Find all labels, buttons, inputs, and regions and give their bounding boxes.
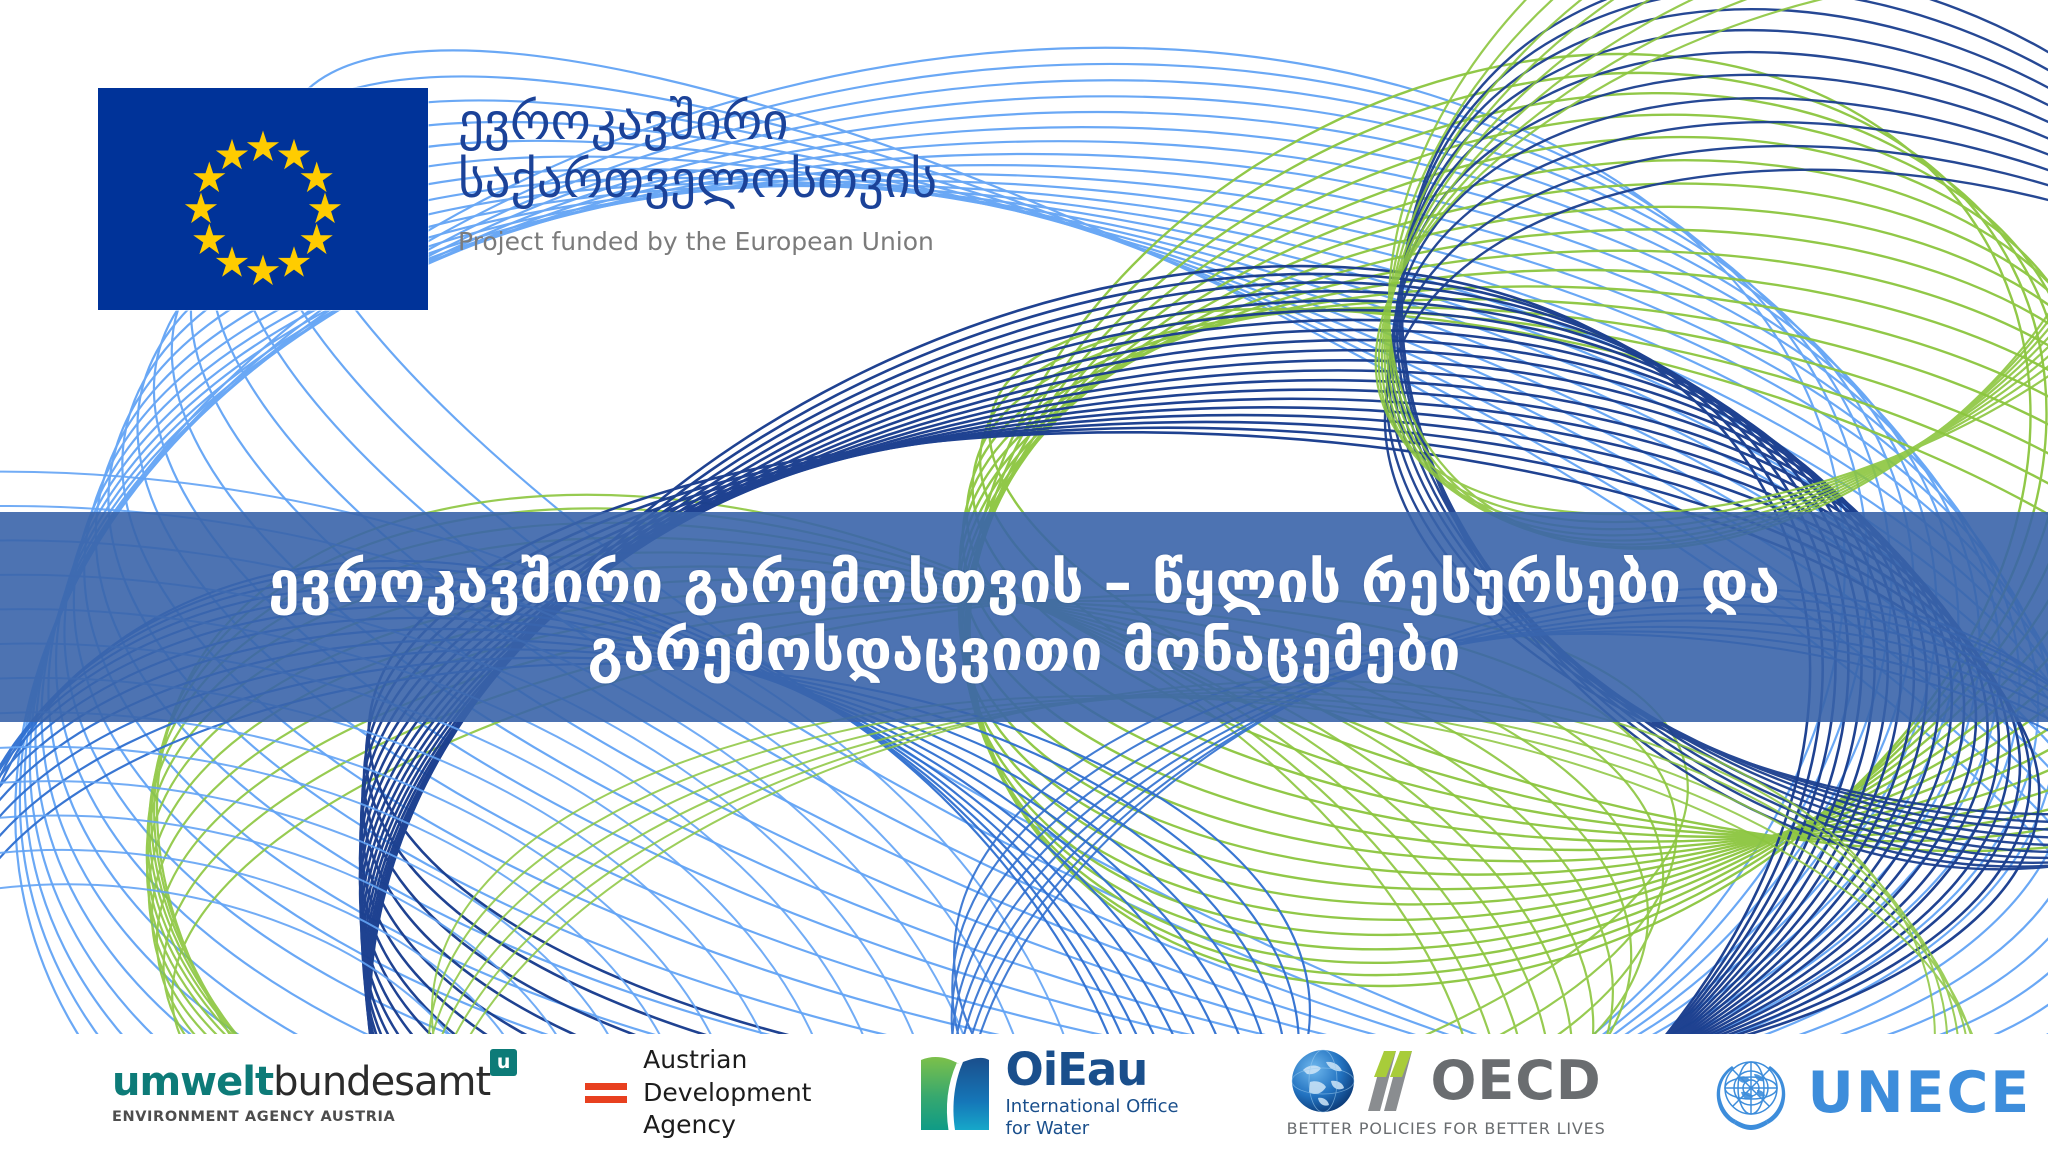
oieau-wordmark: OiEau xyxy=(1005,1047,1178,1092)
title-slide: ევროკავშირი საქართველოსთვის Project fund… xyxy=(0,0,2048,1152)
page-title-line-2: გარემოსდაცვითი მონაცემები xyxy=(124,617,1924,685)
uba-wordmark: umweltbundesamt u xyxy=(112,1062,490,1102)
oieau-river-mark-icon xyxy=(919,1052,991,1134)
european-union-flag xyxy=(98,88,428,310)
unece-wordmark: UNECE xyxy=(1808,1065,2032,1122)
austrian-flag-icon xyxy=(585,1083,627,1103)
uba-subtitle: ENVIRONMENT AGENCY AUSTRIA xyxy=(112,1109,490,1125)
logo-umweltbundesamt: umweltbundesamt u ENVIRONMENT AGENCY AUS… xyxy=(112,1034,490,1152)
logo-unece: UNECE xyxy=(1708,1034,2032,1152)
logo-austrian-development-agency: Austrian Development Agency xyxy=(585,1034,811,1152)
eu-logo-text: ევროკავშირი საქართველოსთვის Project fund… xyxy=(458,88,937,254)
ada-line-3: Agency xyxy=(643,1109,811,1142)
oecd-globe-icon xyxy=(1290,1048,1356,1114)
ada-line-1: Austrian xyxy=(643,1044,811,1077)
uba-word-umwelt: umwelt xyxy=(112,1059,273,1105)
uba-superscript-badge: u xyxy=(490,1049,517,1076)
oecd-tagline: BETTER POLICIES FOR BETTER LIVES xyxy=(1287,1119,1606,1138)
ada-wordmark: Austrian Development Agency xyxy=(643,1044,811,1142)
partner-logo-strip: umweltbundesamt u ENVIRONMENT AGENCY AUS… xyxy=(0,1034,2048,1152)
oecd-chevrons-icon xyxy=(1362,1049,1424,1113)
ada-line-2: Development xyxy=(643,1077,811,1110)
logo-oecd: OECD BETTER POLICIES FOR BETTER LIVES xyxy=(1287,1034,1606,1152)
eu-funding-logo: ევროკავშირი საქართველოსთვის Project fund… xyxy=(98,88,937,310)
page-title: ევროკავშირი გარემოსთვის – წყლის რესურსებ… xyxy=(124,549,1924,686)
united-nations-emblem-icon xyxy=(1708,1050,1794,1136)
eu-funding-note: Project funded by the European Union xyxy=(458,229,937,254)
eu-logo-line-2: საქართველოსთვის xyxy=(458,152,937,210)
page-title-line-1: ევროკავშირი გარემოსთვის – წყლის რესურსებ… xyxy=(124,549,1924,617)
logo-oieau: OiEau International Office for Water xyxy=(919,1034,1178,1152)
uba-word-bundesamt: bundesamt xyxy=(273,1059,490,1105)
oieau-subtitle-1: International Office xyxy=(1005,1096,1178,1118)
title-banner: ევროკავშირი გარემოსთვის – წყლის რესურსებ… xyxy=(0,512,2048,722)
oecd-wordmark: OECD xyxy=(1430,1054,1601,1108)
eu-logo-line-1: ევროკავშირი xyxy=(458,94,937,152)
oieau-subtitle-2: for Water xyxy=(1005,1118,1178,1140)
